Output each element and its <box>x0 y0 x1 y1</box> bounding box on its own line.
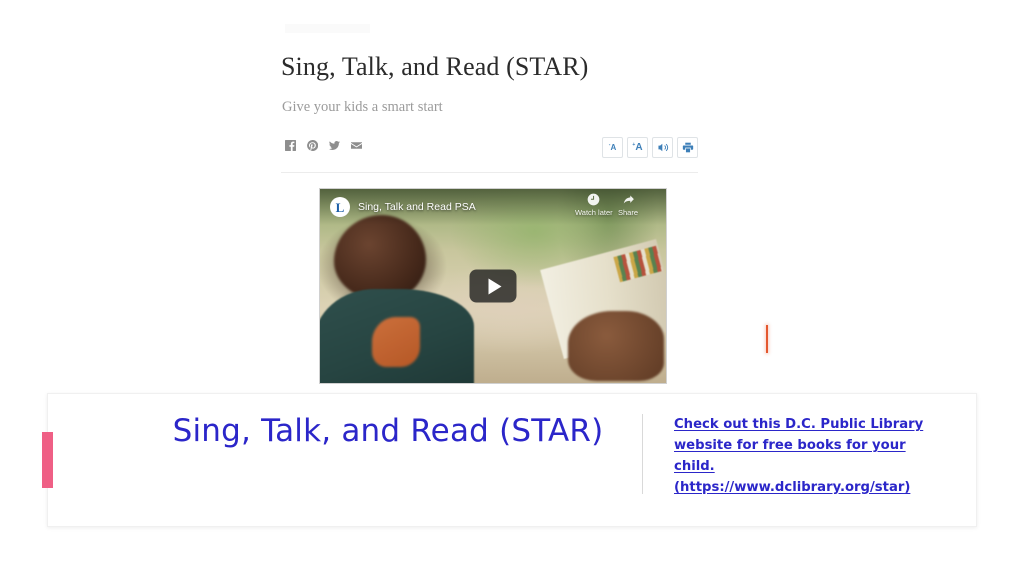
read-aloud-button[interactable] <box>652 137 673 158</box>
decrease-font-size-button[interactable]: -A <box>602 137 623 158</box>
dc-library-link[interactable]: Check out this D.C. Public Library websi… <box>674 415 926 498</box>
watch-later-button[interactable]: Watch later <box>575 193 613 217</box>
reader-tools-group: -A +A <box>602 137 698 158</box>
share-arrow-icon <box>622 193 635 208</box>
clock-icon <box>587 193 600 208</box>
watch-later-label: Watch later <box>575 208 613 217</box>
toolbar-divider <box>281 172 698 173</box>
thumbnail-shirt-graphic <box>372 317 420 367</box>
page-subtitle: Give your kids a smart start <box>282 99 443 116</box>
breadcrumb-placeholder-bar <box>285 24 370 33</box>
pinterest-icon[interactable] <box>307 140 318 151</box>
share-icon-group <box>285 140 362 151</box>
channel-avatar[interactable]: L <box>330 197 350 217</box>
email-icon[interactable] <box>351 140 362 151</box>
caption-headline: Sing, Talk, and Read (STAR) <box>118 412 658 452</box>
video-header-overlay: L Sing, Talk and Read PSA Watch later Sh… <box>320 189 666 225</box>
play-triangle-icon <box>488 278 501 294</box>
video-title[interactable]: Sing, Talk and Read PSA <box>358 201 476 213</box>
caption-panel: Sing, Talk, and Read (STAR) Check out th… <box>47 393 977 527</box>
video-player-embed[interactable]: L Sing, Talk and Read PSA Watch later Sh… <box>319 188 667 384</box>
share-label: Share <box>618 208 638 217</box>
increase-font-size-button[interactable]: +A <box>627 137 648 158</box>
facebook-icon[interactable] <box>285 140 296 151</box>
orange-annotation-marker <box>766 325 768 353</box>
twitter-icon[interactable] <box>329 140 340 151</box>
thumbnail-hand <box>568 311 664 381</box>
play-button[interactable] <box>470 270 517 303</box>
article-toolbar: -A +A <box>281 137 698 163</box>
page-title: Sing, Talk, and Read (STAR) <box>281 52 781 82</box>
pink-accent-bar <box>42 432 53 488</box>
share-button[interactable]: Share <box>618 193 638 217</box>
print-button[interactable] <box>677 137 698 158</box>
channel-logo-letter: L <box>336 201 345 214</box>
caption-panel-divider <box>642 414 643 494</box>
